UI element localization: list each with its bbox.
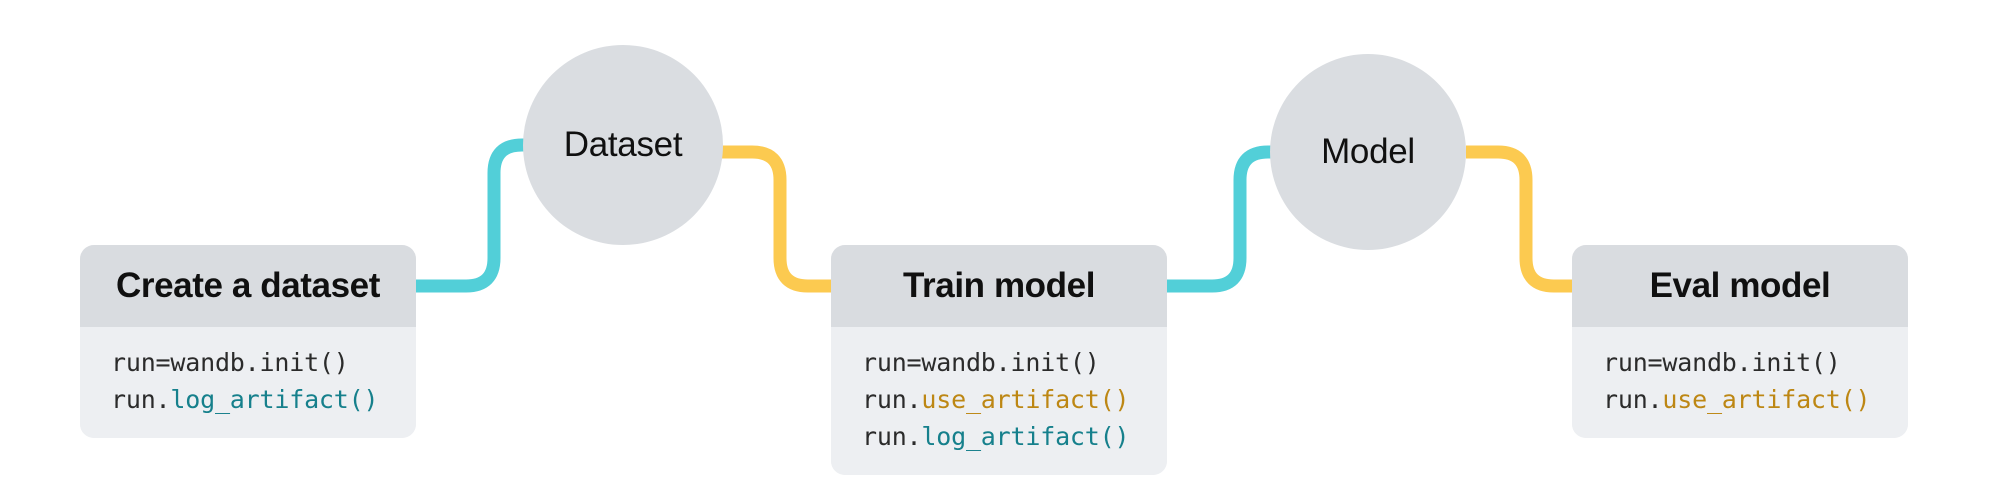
code-line: run.use_artifact() bbox=[862, 381, 1167, 418]
code-line: run.use_artifact() bbox=[1603, 381, 1908, 418]
connector-train-model-to-model bbox=[1167, 152, 1272, 286]
connector-create-dataset-to-dataset bbox=[416, 145, 524, 286]
code-token-plain: run. bbox=[862, 385, 921, 414]
stage-header-eval-model: Eval model bbox=[1572, 245, 1908, 327]
stage-code-block-create-a-dataset: run=wandb.init()run.log_artifact() bbox=[80, 327, 416, 438]
code-line: run.log_artifact() bbox=[111, 381, 416, 418]
code-line: run.log_artifact() bbox=[862, 418, 1167, 455]
code-token-use-artifact: use_artifact() bbox=[921, 385, 1129, 414]
stage-title: Train model bbox=[903, 266, 1095, 306]
code-token-plain: run=wandb.init() bbox=[111, 348, 349, 377]
stage-box-create-a-dataset: Create a datasetrun=wandb.init()run.log_… bbox=[80, 245, 416, 438]
connector-model-to-eval-model bbox=[1466, 152, 1572, 286]
code-token-log-artifact: log_artifact() bbox=[170, 385, 378, 414]
stage-title: Create a dataset bbox=[116, 266, 380, 306]
artifact-label: Dataset bbox=[564, 125, 683, 165]
stage-box-train-model: Train modelrun=wandb.init()run.use_artif… bbox=[831, 245, 1167, 475]
artifact-node-dataset: Dataset bbox=[523, 45, 723, 245]
artifact-label: Model bbox=[1321, 132, 1415, 172]
artifact-node-model: Model bbox=[1270, 54, 1466, 250]
code-token-plain: run=wandb.init() bbox=[862, 348, 1100, 377]
code-token-plain: run. bbox=[111, 385, 170, 414]
code-line: run=wandb.init() bbox=[862, 344, 1167, 381]
code-token-use-artifact: use_artifact() bbox=[1662, 385, 1870, 414]
code-token-plain: run. bbox=[862, 422, 921, 451]
stage-code-block-eval-model: run=wandb.init()run.use_artifact() bbox=[1572, 327, 1908, 438]
stage-code-block-train-model: run=wandb.init()run.use_artifact()run.lo… bbox=[831, 327, 1167, 475]
stage-header-create-a-dataset: Create a dataset bbox=[80, 245, 416, 327]
code-token-plain: run=wandb.init() bbox=[1603, 348, 1841, 377]
code-line: run=wandb.init() bbox=[111, 344, 416, 381]
code-token-log-artifact: log_artifact() bbox=[921, 422, 1129, 451]
stage-header-train-model: Train model bbox=[831, 245, 1167, 327]
connector-dataset-to-train-model bbox=[722, 152, 831, 286]
stage-title: Eval model bbox=[1650, 266, 1831, 306]
stage-box-eval-model: Eval modelrun=wandb.init()run.use_artifa… bbox=[1572, 245, 1908, 438]
code-line: run=wandb.init() bbox=[1603, 344, 1908, 381]
artifacts-pipeline-diagram: Create a datasetrun=wandb.init()run.log_… bbox=[0, 0, 1991, 503]
code-token-plain: run. bbox=[1603, 385, 1662, 414]
